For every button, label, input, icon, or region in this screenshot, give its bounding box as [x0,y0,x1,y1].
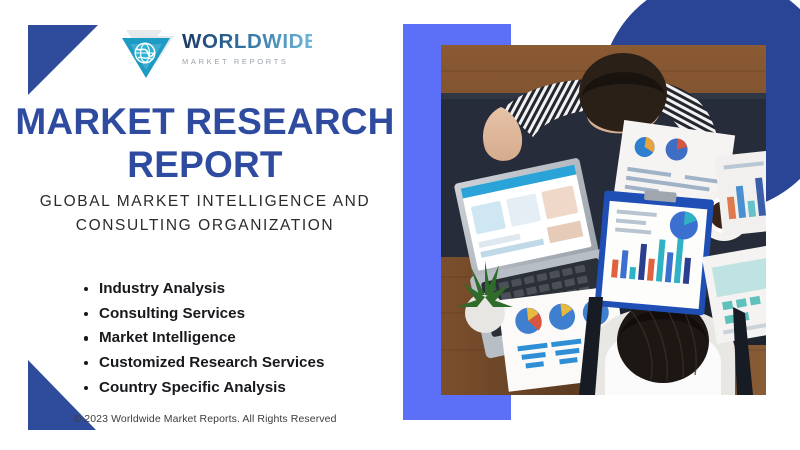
list-item: Customized Research Services [84,351,324,376]
logo-wordmark: WORLDWIDE MARKET REPORTS [182,32,312,66]
list-item: Consulting Services [84,302,324,327]
page-title: MARKET RESEARCH REPORT [0,100,410,187]
logo-brand-name: WORLDWIDE [182,32,312,53]
globe-triangle-icon [116,26,178,82]
content-column: WORLDWIDE MARKET REPORTS MARKET RESEARCH… [0,0,410,450]
market-research-report-banner: WORLDWIDE MARKET REPORTS MARKET RESEARCH… [0,0,800,450]
list-item: Industry Analysis [84,277,324,302]
list-item: Country Specific Analysis [84,376,324,401]
copyright-notice: © 2023 Worldwide Market Reports. All Rig… [0,413,410,425]
services-list: Industry Analysis Consulting Services Ma… [84,277,324,400]
list-item: Market Intelligence [84,326,324,351]
logo-tagline: MARKET REPORTS [182,57,312,66]
worldwide-market-reports-logo[interactable]: WORLDWIDE MARKET REPORTS [116,24,311,86]
office-meeting-photo [441,45,766,395]
page-subtitle: GLOBAL MARKET INTELLIGENCE AND CONSULTIN… [20,190,390,237]
